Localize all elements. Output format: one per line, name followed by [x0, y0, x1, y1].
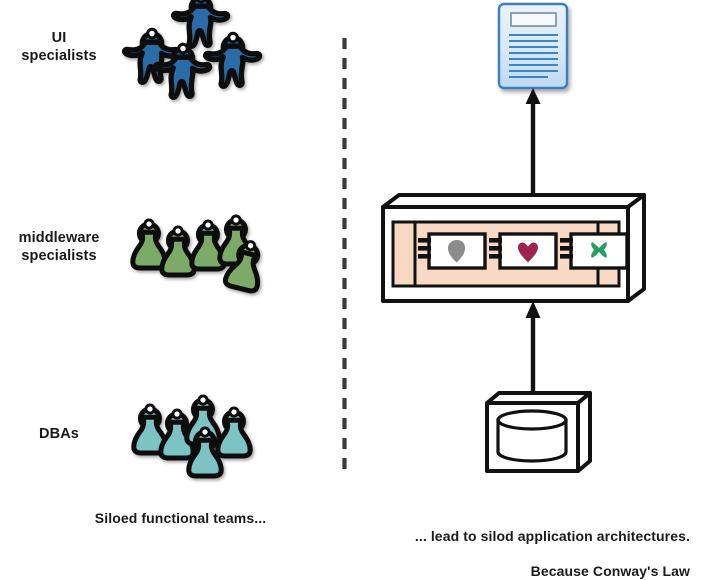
people-group-dbas: [134, 396, 250, 476]
caption-right-line2: Because Conway's Law: [531, 563, 690, 579]
people-group-ui: [125, 0, 260, 97]
role-label-dbas: DBAs: [0, 425, 118, 443]
role-label-middleware: middleware specialists: [0, 229, 118, 265]
server-module-3: [560, 234, 627, 268]
caption-right-line1: ... lead to silod application architectu…: [415, 528, 690, 544]
people-group-middleware: [133, 216, 267, 292]
document-report-icon: [499, 4, 567, 88]
database-cylinder-icon: [487, 393, 590, 471]
diagram-canvas: [0, 0, 701, 563]
server-module-1: [418, 234, 485, 268]
arrow-server-to-document: [526, 88, 541, 196]
role-label-ui: UI specialists: [0, 29, 118, 65]
caption-left-panel: Siloed functional teams...: [58, 510, 303, 528]
caption-right-panel: ... lead to silod application architectu…: [370, 510, 690, 580]
server-module-2: [489, 234, 556, 268]
application-server-icon: [383, 195, 644, 301]
arrow-database-to-server: [526, 301, 541, 393]
